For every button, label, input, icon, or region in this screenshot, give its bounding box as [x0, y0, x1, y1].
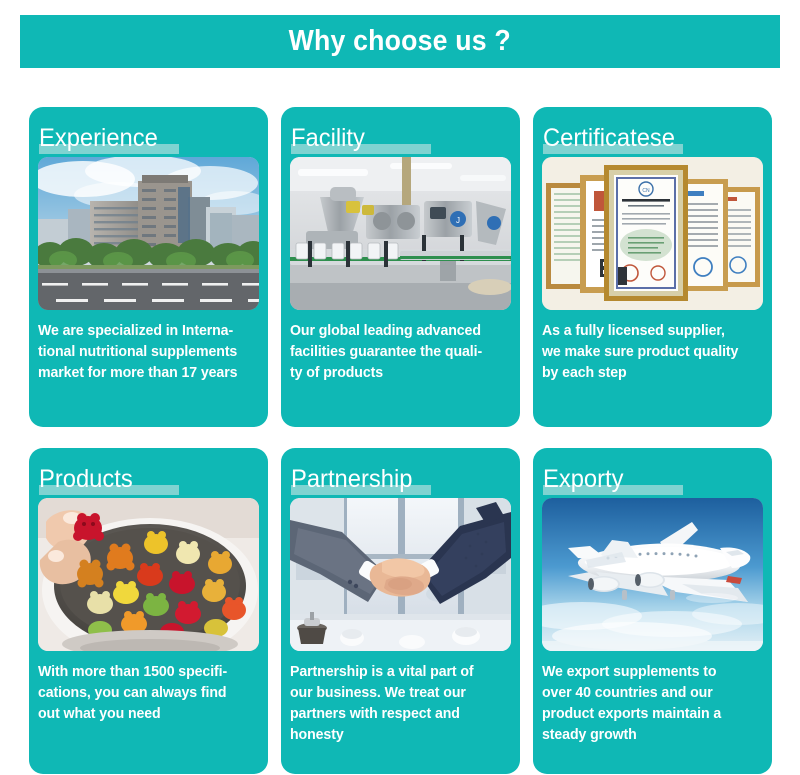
- business-handshake-photo: [290, 498, 511, 651]
- card-title-facility: Facility: [291, 124, 365, 153]
- card-title-facility-wrap: Facility: [291, 120, 511, 155]
- feature-card-products[interactable]: Products: [29, 448, 268, 774]
- airplane-in-sky-photo: [542, 498, 763, 651]
- framed-certificates-photo: CN: [542, 157, 763, 310]
- card-body-partnership: Partnership is a vital part of our busin…: [290, 662, 504, 746]
- page-title: Why choose us ?: [289, 25, 511, 58]
- card-title-products: Products: [39, 465, 133, 494]
- card-body-certificates: As a fully licensed supplier, we make su…: [542, 321, 756, 384]
- feature-card-export[interactable]: Exporty: [533, 448, 772, 774]
- feature-card-partnership[interactable]: Partnership: [281, 448, 520, 774]
- gummy-bears-bowl-photo: [38, 498, 259, 651]
- office-buildings-photo: [38, 157, 259, 310]
- feature-card-certificates[interactable]: Certificatese: [533, 107, 772, 427]
- svg-text:J: J: [456, 216, 460, 225]
- card-title-certificates: Certificatese: [543, 124, 675, 153]
- card-title-partnership-wrap: Partnership: [291, 461, 511, 496]
- card-title-experience-wrap: Experience: [39, 120, 259, 155]
- card-title-export: Exporty: [543, 465, 624, 494]
- feature-card-facility[interactable]: Facility: [281, 107, 520, 427]
- card-body-products: With more than 1500 specifi- cations, yo…: [38, 662, 252, 725]
- card-body-facility: Our global leading advanced facilities g…: [290, 321, 504, 384]
- page-header-banner: Why choose us ?: [20, 15, 780, 68]
- production-line-machinery-photo: J: [290, 157, 511, 310]
- card-title-experience: Experience: [39, 124, 158, 153]
- card-title-export-wrap: Exporty: [543, 461, 763, 496]
- card-body-experience: We are specialized in Interna- tional nu…: [38, 321, 252, 384]
- card-title-certificates-wrap: Certificatese: [543, 120, 763, 155]
- svg-text:CN: CN: [642, 188, 650, 194]
- card-body-export: We export supplements to over 40 countri…: [542, 662, 756, 746]
- feature-card-grid: Experience: [29, 107, 772, 774]
- card-title-partnership: Partnership: [291, 465, 412, 494]
- card-title-products-wrap: Products: [39, 461, 259, 496]
- feature-card-experience[interactable]: Experience: [29, 107, 268, 427]
